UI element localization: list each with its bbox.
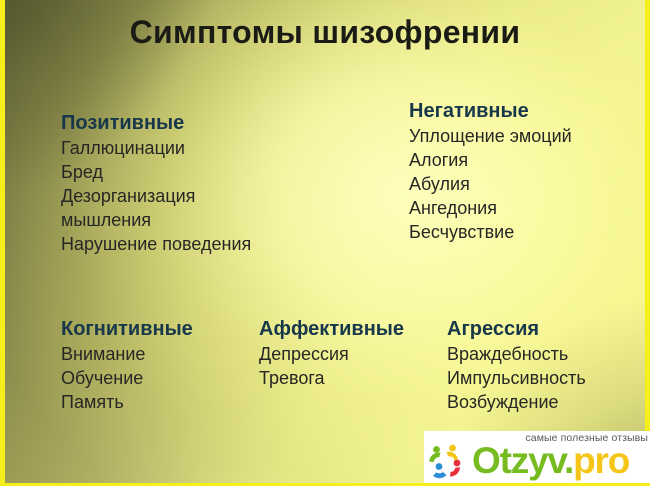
symptom-item: Возбуждение bbox=[447, 391, 586, 415]
symptom-group-negative: Негативные Уплощение эмоций Алогия Абули… bbox=[409, 100, 572, 245]
symptom-group-heading: Позитивные bbox=[61, 112, 251, 135]
people-circle-logo-icon bbox=[426, 441, 470, 483]
symptom-item: Память bbox=[61, 391, 193, 415]
symptom-list: Депрессия Тревога bbox=[259, 343, 404, 391]
symptom-list: Враждебность Импульсивность Возбуждение bbox=[447, 343, 586, 415]
symptom-group-positive: Позитивные Галлюцинации Бред Дезорганиза… bbox=[61, 112, 251, 257]
symptom-item: Галлюцинации bbox=[61, 137, 251, 161]
symptom-item: мышления bbox=[61, 209, 251, 233]
slide-title: Симптомы шизофрении bbox=[0, 14, 650, 51]
watermark-brand-secondary: pro bbox=[573, 440, 629, 481]
watermark-brand-primary: Otzyv bbox=[472, 440, 564, 481]
symptom-item: Абулия bbox=[409, 173, 572, 197]
symptom-item: Обучение bbox=[61, 367, 193, 391]
symptom-group-cognitive: Когнитивные Внимание Обучение Память bbox=[61, 318, 193, 415]
symptom-item: Дезорганизация bbox=[61, 185, 251, 209]
symptom-group-aggression: Агрессия Враждебность Импульсивность Воз… bbox=[447, 318, 586, 415]
watermark-brand-dot: . bbox=[564, 440, 573, 481]
symptom-item: Уплощение эмоций bbox=[409, 125, 572, 149]
symptom-item: Импульсивность bbox=[447, 367, 586, 391]
symptom-item: Депрессия bbox=[259, 343, 404, 367]
symptom-item: Бесчувствие bbox=[409, 221, 572, 245]
symptom-group-heading: Агрессия bbox=[447, 318, 586, 341]
symptom-item: Тревога bbox=[259, 367, 404, 391]
watermark-brand: Otzyv.pro bbox=[472, 440, 629, 482]
symptom-group-affective: Аффективные Депрессия Тревога bbox=[259, 318, 404, 391]
symptom-group-heading: Когнитивные bbox=[61, 318, 193, 341]
symptom-list: Уплощение эмоций Алогия Абулия Ангедония… bbox=[409, 125, 572, 245]
symptom-item: Бред bbox=[61, 161, 251, 185]
symptom-group-heading: Аффективные bbox=[259, 318, 404, 341]
symptom-item: Нарушение поведения bbox=[61, 233, 251, 257]
site-watermark: самые полезные отзывы Otzyv.pro bbox=[424, 431, 650, 486]
symptom-group-heading: Негативные bbox=[409, 100, 572, 123]
symptom-list: Внимание Обучение Память bbox=[61, 343, 193, 415]
symptom-item: Враждебность bbox=[447, 343, 586, 367]
symptom-item: Ангедония bbox=[409, 197, 572, 221]
symptom-item: Алогия bbox=[409, 149, 572, 173]
presentation-slide: Симптомы шизофрении Позитивные Галлюцина… bbox=[0, 0, 650, 486]
slide-content: Симптомы шизофрении Позитивные Галлюцина… bbox=[0, 0, 650, 486]
symptom-item: Внимание bbox=[61, 343, 193, 367]
symptom-list: Галлюцинации Бред Дезорганизация мышлени… bbox=[61, 137, 251, 257]
